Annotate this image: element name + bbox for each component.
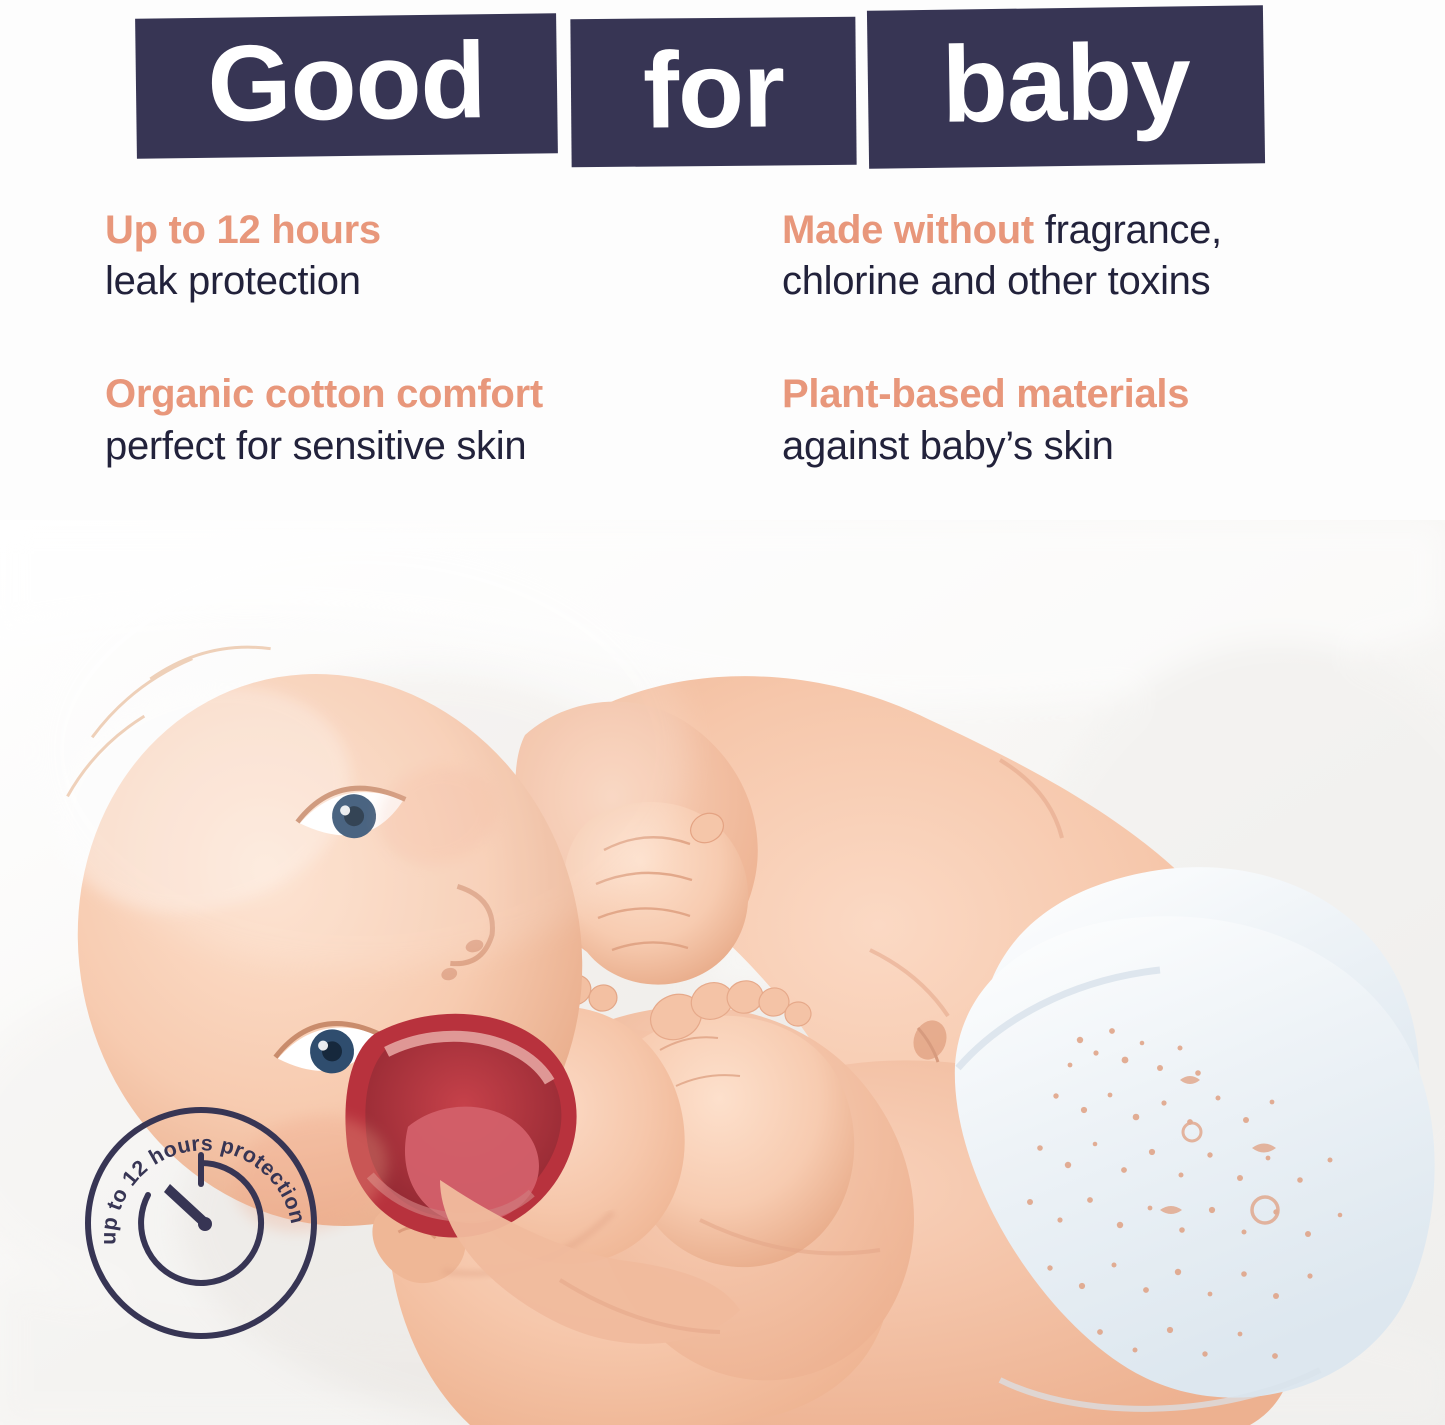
header-word-3: baby — [941, 27, 1191, 138]
feature-highlight: Made without — [782, 208, 1034, 252]
feature-headline: Plant-based materials — [782, 369, 1360, 420]
header-block-for: for — [570, 17, 856, 167]
header-banner: Good for baby — [0, 0, 1445, 195]
feature-grid: Up to 12 hours leak protection Made with… — [0, 205, 1445, 472]
feature-highlight: Plant-based materials — [782, 372, 1189, 416]
timer-icon — [141, 1155, 261, 1283]
feature-item-plant-based: Plant-based materials against baby’s ski… — [0, 369, 1360, 471]
badge-graphic: up to 12 hours protection — [82, 1104, 320, 1342]
feature-subline: chlorine and other toxins — [782, 256, 1360, 307]
header-block-good: Good — [135, 13, 558, 158]
header-word-1: Good — [207, 26, 486, 138]
feature-item-made-without: Made without fragrance, chlorine and oth… — [0, 205, 1360, 307]
header-word-2: for — [643, 35, 785, 144]
feature-headline: Made without fragrance, — [782, 205, 1360, 256]
feature-trailing: fragrance, — [1034, 208, 1222, 252]
feature-subline: against baby’s skin — [782, 421, 1360, 472]
protection-badge: up to 12 hours protection — [82, 1104, 320, 1342]
header-block-baby: baby — [867, 5, 1265, 169]
